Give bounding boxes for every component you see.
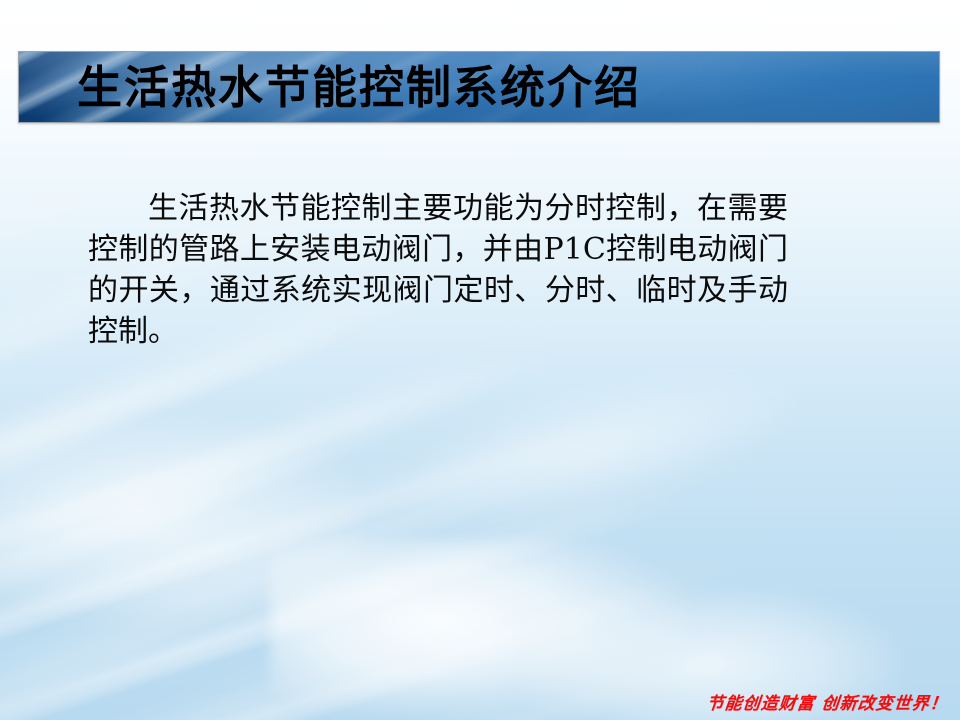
page-title: 生活热水节能控制系统介绍: [77, 65, 641, 110]
body-paragraph: 生活热水节能控制主要功能为分时控制，在需要控制的管路上安装电动阀门，并由P1C控…: [88, 188, 788, 352]
title-banner[interactable]: 生活热水节能控制系统介绍: [18, 51, 940, 123]
slide-canvas: 生活热水节能控制系统介绍 生活热水节能控制主要功能为分时控制，在需要控制的管路上…: [0, 0, 960, 720]
footer-slogan: 节能创造财富 创新改变世界！: [706, 689, 950, 714]
cloud-wisp-center: [372, 341, 809, 559]
